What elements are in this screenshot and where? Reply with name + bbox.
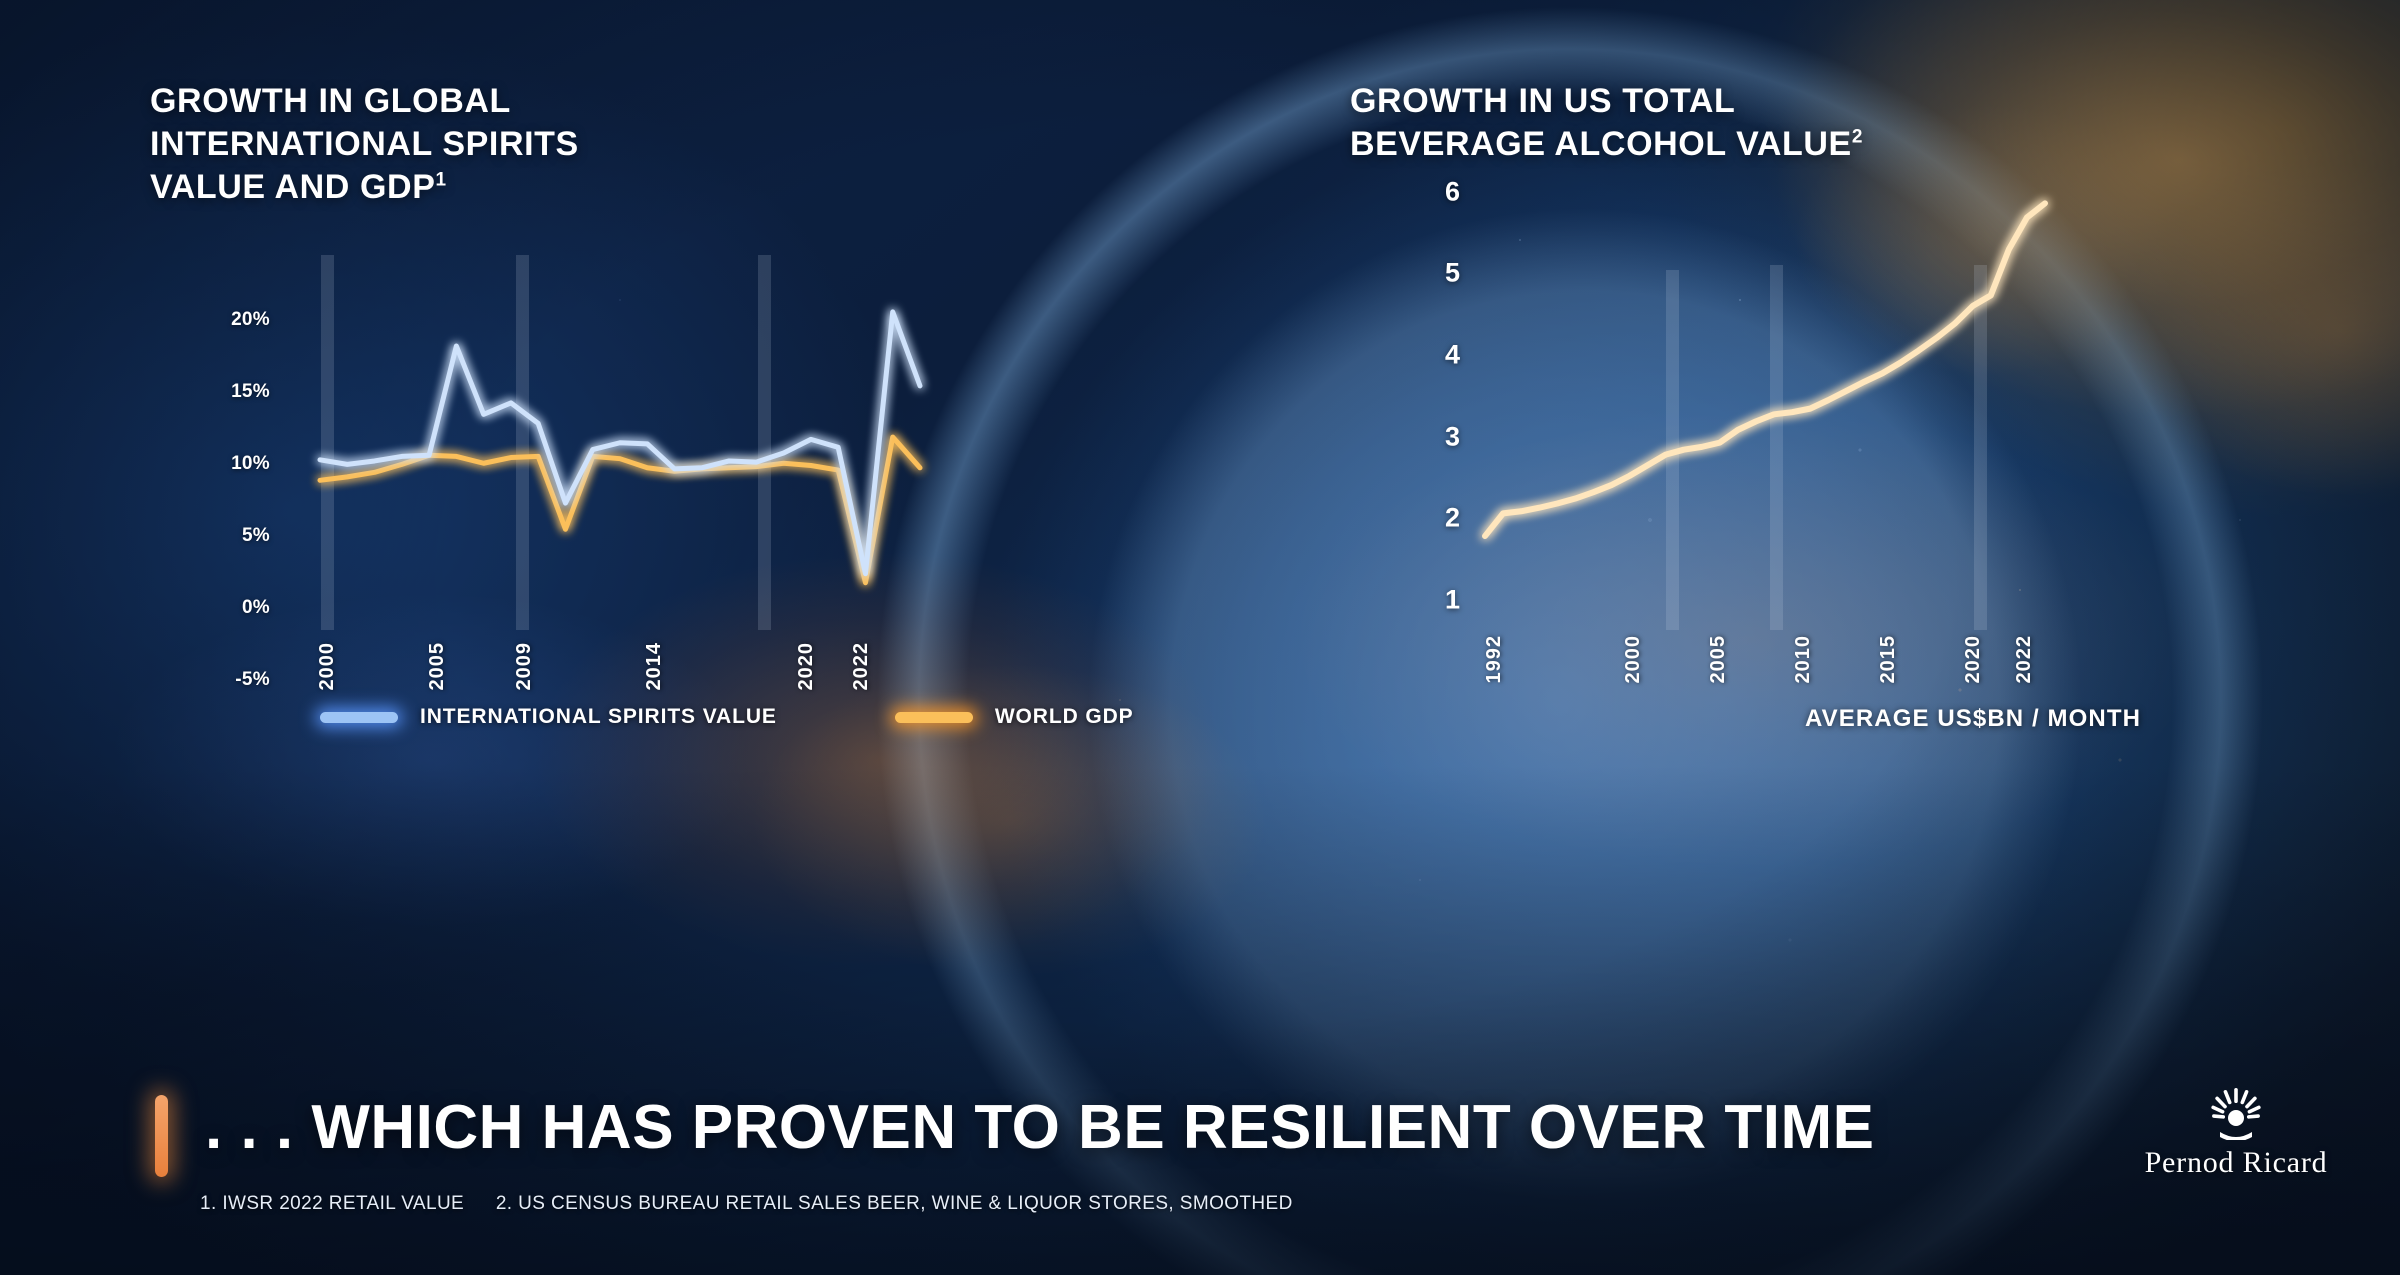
right-chart-panel: GROWTH IN US TOTAL BEVERAGE ALCOHOL VALU…	[1350, 80, 2350, 1010]
left-ytick-0: 0%	[150, 597, 270, 619]
left-plot-area	[320, 255, 920, 585]
legend-label-world-gdp: WORLD GDP	[995, 705, 1134, 729]
left-title-line-1: GROWTH IN GLOBAL	[150, 82, 511, 120]
right-ytick-3: 3	[1445, 422, 1460, 453]
left-xtick-2022: 2022	[850, 642, 873, 691]
right-xtick-2022: 2022	[2013, 635, 2036, 684]
left-title-footnote-marker: 1	[435, 169, 446, 190]
right-ytick-1: 1	[1445, 585, 1460, 616]
right-xtick-2005: 2005	[1707, 635, 1730, 684]
left-title-line-2: INTERNATIONAL SPIRITS	[150, 125, 579, 163]
legend-swatch-blue	[320, 712, 398, 723]
right-xtick-2010: 2010	[1792, 635, 1815, 684]
orange-accent-bar	[155, 1095, 168, 1177]
left-chart-legend: INTERNATIONAL SPIRITS VALUE WORLD GDP	[320, 705, 1134, 729]
right-chart-title: GROWTH IN US TOTAL BEVERAGE ALCOHOL VALU…	[1350, 80, 2350, 166]
left-xtick-2009: 2009	[513, 642, 536, 691]
left-xtick-2020: 2020	[795, 642, 818, 691]
right-plot-area	[1485, 175, 2045, 575]
right-ytick-2: 2	[1445, 503, 1460, 534]
footnote-1: 1. IWSR 2022 RETAIL VALUE	[200, 1193, 464, 1214]
legend-label-international-spirits-value: INTERNATIONAL SPIRITS VALUE	[420, 705, 777, 729]
slide-footnotes: 1. IWSR 2022 RETAIL VALUE 2. US CENSUS B…	[200, 1193, 1293, 1215]
left-ytick-neg5: -5%	[150, 669, 270, 691]
right-xtick-2000: 2000	[1622, 635, 1645, 684]
left-xtick-2005: 2005	[426, 642, 449, 691]
series-international-spirits-value	[320, 312, 920, 574]
slide-headline: . . . WHICH HAS PROVEN TO BE RESILIENT O…	[205, 1092, 1874, 1163]
left-xtick-2000: 2000	[316, 642, 339, 691]
right-xtick-2020: 2020	[1962, 635, 1985, 684]
right-ytick-6: 6	[1445, 177, 1460, 208]
series-us-beverage-alcohol-value	[1485, 203, 2045, 536]
series-world-gdp	[320, 437, 920, 583]
left-ytick-20: 20%	[150, 309, 270, 331]
brand-name: Pernod Ricard	[2120, 1146, 2352, 1180]
left-ytick-10: 10%	[150, 453, 270, 475]
left-chart-panel: GROWTH IN GLOBAL INTERNATIONAL SPIRITS V…	[150, 80, 1200, 1010]
pernod-ricard-logo: Pernod Ricard	[2120, 1088, 2352, 1180]
legend-item-international-spirits-value[interactable]: INTERNATIONAL SPIRITS VALUE	[320, 705, 777, 729]
right-title-footnote-marker: 2	[1852, 127, 1863, 148]
left-ytick-15: 15%	[150, 381, 270, 403]
right-ytick-4: 4	[1445, 340, 1460, 371]
legend-swatch-orange	[895, 712, 973, 723]
right-xtick-2015: 2015	[1877, 635, 1900, 684]
sunburst-icon	[2200, 1088, 2272, 1140]
footnote-2: 2. US CENSUS BUREAU RETAIL SALES BEER, W…	[496, 1193, 1293, 1214]
legend-item-world-gdp[interactable]: WORLD GDP	[895, 705, 1134, 729]
left-title-line-3: VALUE AND GDP	[150, 168, 435, 206]
right-title-line-2: BEVERAGE ALCOHOL VALUE	[1350, 125, 1852, 163]
left-xtick-2014: 2014	[643, 642, 666, 691]
right-chart-caption: AVERAGE US$BN / MONTH	[1805, 705, 2141, 733]
right-ytick-5: 5	[1445, 258, 1460, 289]
left-ytick-5: 5%	[150, 525, 270, 547]
right-xtick-1992: 1992	[1483, 635, 1506, 684]
right-chart-svg	[1485, 175, 2045, 575]
left-chart-svg	[320, 255, 920, 585]
right-title-line-1: GROWTH IN US TOTAL	[1350, 82, 1735, 120]
left-chart-title: GROWTH IN GLOBAL INTERNATIONAL SPIRITS V…	[150, 80, 1200, 208]
